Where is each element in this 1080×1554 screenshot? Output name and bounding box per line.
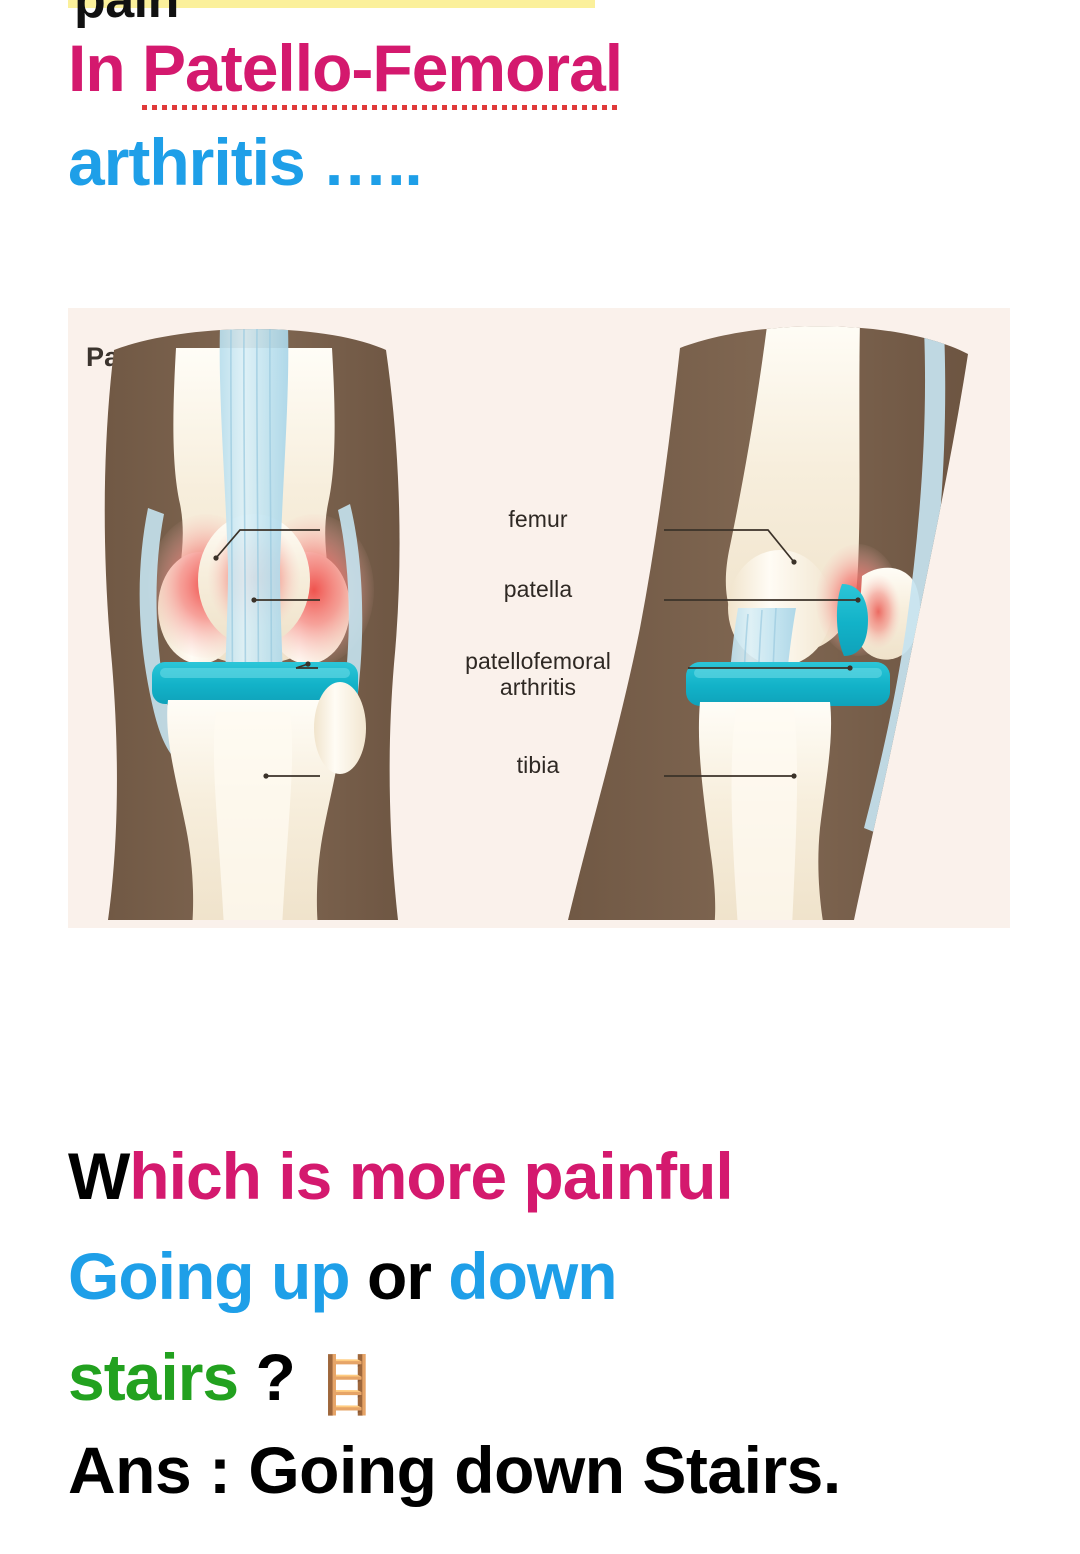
question-block: Which is more painful Going up or down s…	[68, 1126, 1058, 1427]
answer-line: Ans : Going down Stairs.	[68, 1432, 1058, 1508]
top-highlight-strip: pain	[68, 0, 595, 8]
title-line-1-prefix: In	[68, 31, 142, 105]
question-option-down: down	[448, 1239, 616, 1313]
question-subject-stairs: stairs	[68, 1340, 255, 1414]
question-mark: ?	[255, 1340, 312, 1414]
anatomy-label-tibia: tibia	[413, 752, 663, 778]
question-line-2: Going up or down	[68, 1226, 1058, 1326]
fibula-front	[314, 682, 366, 774]
title-line-2: arthritis …..	[68, 116, 1028, 210]
anatomy-label-patellofemoral-arthritis: patellofemoral arthritis	[388, 648, 688, 701]
question-line-1-rest: hich is more painful	[129, 1139, 732, 1213]
question-line-1: Which is more painful	[68, 1126, 1058, 1226]
question-line-1-initial: W	[68, 1139, 129, 1213]
knee-anatomy-illustration	[68, 308, 1010, 928]
title-line-1-emphasis: Patello-Femoral	[142, 22, 622, 116]
side-view-group	[548, 308, 988, 928]
front-view-group	[88, 308, 428, 928]
question-conjunction: or	[367, 1239, 448, 1313]
title-line-1: In Patello-Femoral	[68, 22, 1028, 116]
anatomy-figure-panel: Patellofemoral arthritis Front Side	[68, 308, 1010, 928]
page-title: In Patello-Femoral arthritis …..	[68, 22, 1028, 209]
ladder-emoji: 🪜	[312, 1353, 381, 1416]
anatomy-label-patella: patella	[413, 576, 663, 602]
question-line-3: stairs ? 🪜	[68, 1327, 1058, 1427]
anatomy-label-femur: femur	[413, 506, 663, 532]
question-option-up: Going up	[68, 1239, 367, 1313]
